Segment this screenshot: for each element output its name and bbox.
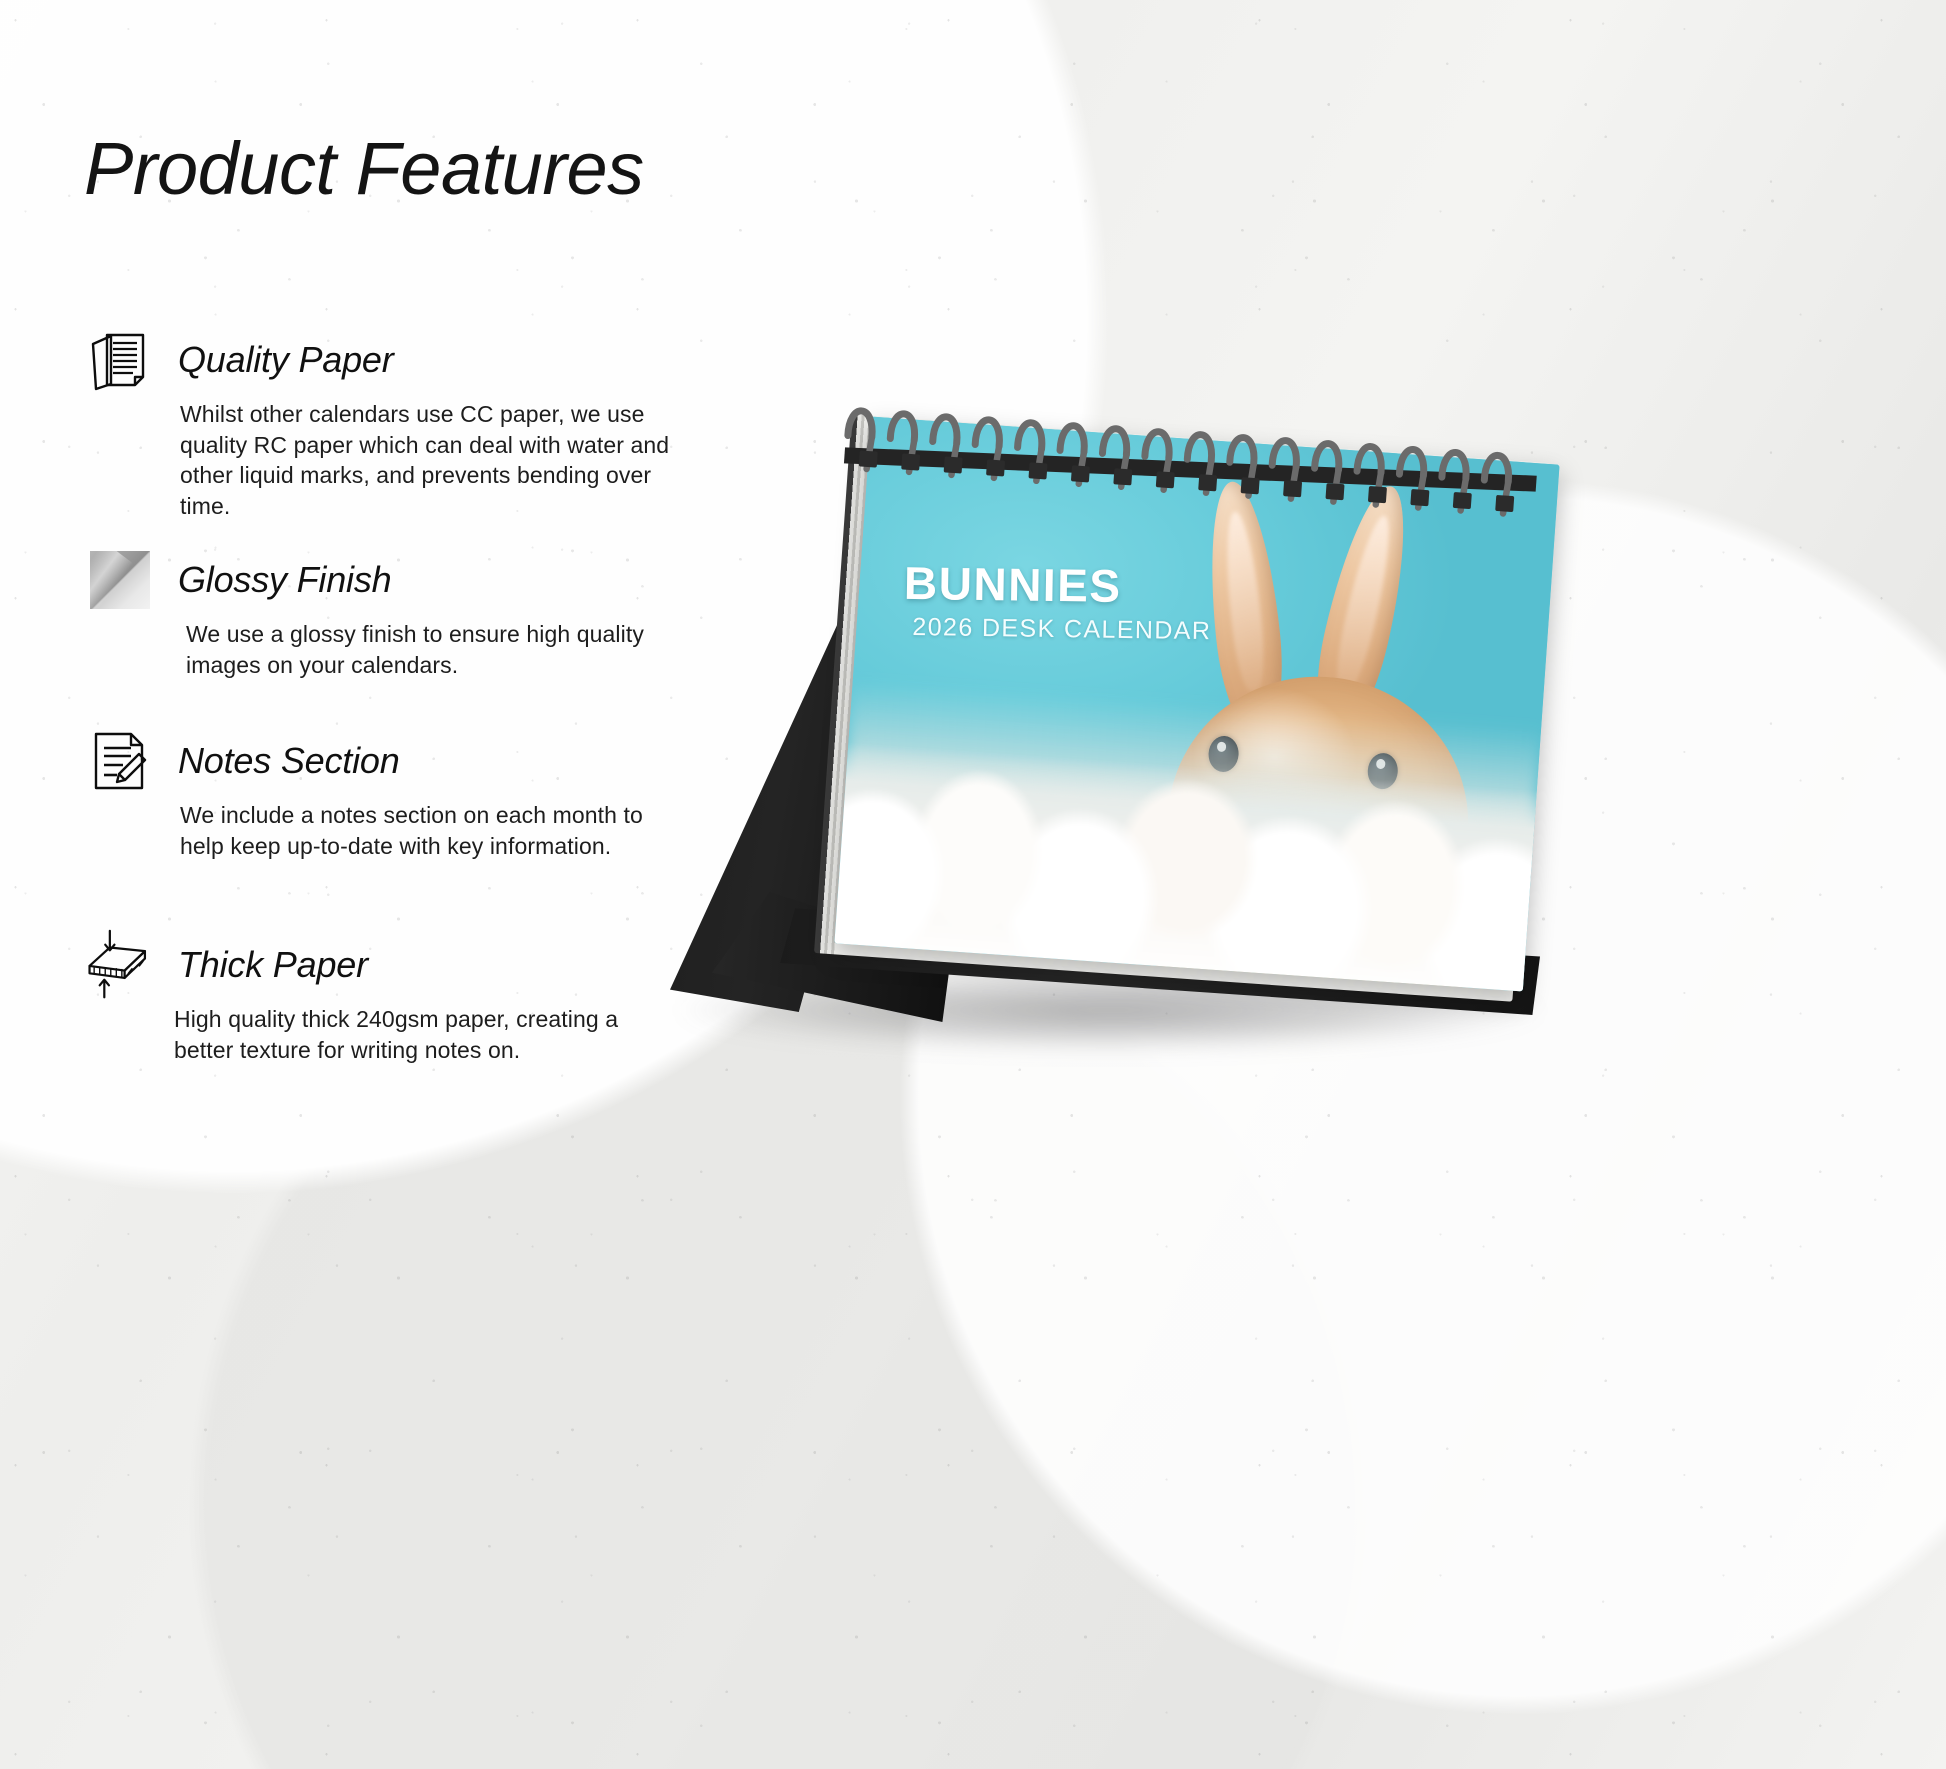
feature-body: We use a glossy finish to ensure high qu…: [186, 619, 646, 680]
feature-body: We include a notes section on each month…: [180, 800, 680, 861]
feature-header: Notes Section: [84, 726, 684, 796]
features-column: Product Features: [84, 132, 684, 206]
glossy-gradient-swatch-icon: [84, 545, 156, 615]
feature-header: Glossy Finish: [84, 545, 684, 615]
cover-brand-title: BUNNIES: [904, 560, 1213, 610]
feature-notes-section: Notes Section We include a notes section…: [84, 726, 684, 861]
feature-thick-paper: Thick Paper High quality thick 240gsm pa…: [84, 930, 684, 1065]
feature-title: Notes Section: [178, 740, 400, 782]
feature-body: Whilst other calendars use CC paper, we …: [180, 399, 680, 521]
feature-body: High quality thick 240gsm paper, creatin…: [174, 1004, 644, 1065]
feature-header: Quality Paper: [84, 325, 684, 395]
stacked-documents-icon: [84, 325, 156, 395]
page-title: Product Features: [84, 132, 684, 206]
feature-title: Thick Paper: [178, 944, 368, 986]
paper-thickness-arrows-icon: [84, 930, 156, 1000]
feature-title: Glossy Finish: [178, 559, 391, 601]
feature-header: Thick Paper: [84, 930, 684, 1000]
feature-quality-paper: Quality Paper Whilst other calendars use…: [84, 325, 684, 521]
note-with-pencil-icon: [84, 726, 156, 796]
cover-typography: BUNNIES 2026 DESK CALENDAR: [903, 560, 1212, 644]
cover-subtitle: 2026 DESK CALENDAR: [912, 615, 1211, 644]
feature-title: Quality Paper: [178, 339, 394, 381]
desk-calendar-mockup: BUNNIES 2026 DESK CALENDAR: [660, 380, 1560, 1100]
feature-glossy-finish: Glossy Finish We use a glossy finish to …: [84, 545, 684, 680]
